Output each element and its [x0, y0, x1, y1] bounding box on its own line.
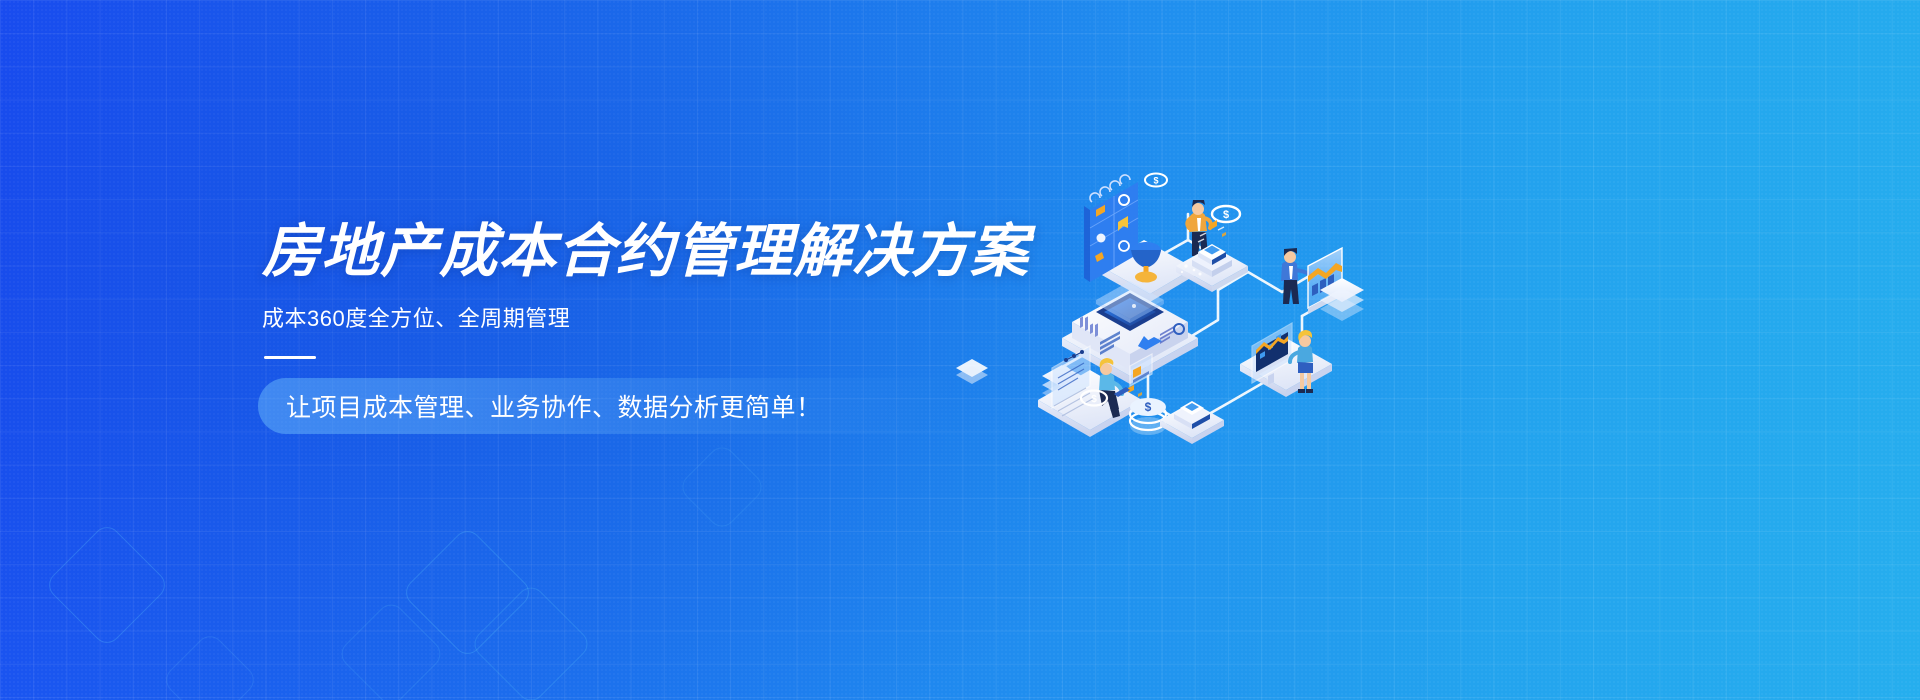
- small-node: [1160, 401, 1224, 444]
- dollar-coin-icon: $: [1212, 206, 1240, 222]
- flat-card-icon: [956, 359, 988, 384]
- diamond-decor-icon: [43, 521, 170, 648]
- diamond-decor-icon: [336, 599, 446, 700]
- svg-text:$: $: [1223, 209, 1229, 221]
- tagline-pill: 让项目成本管理、业务协作、数据分析更简单！: [258, 378, 958, 434]
- hero-banner: 房地产成本合约管理解决方案 成本360度全方位、全周期管理 让项目成本管理、业务…: [0, 0, 1920, 700]
- svg-text:$: $: [1153, 176, 1158, 186]
- diamond-decor-icon: [400, 525, 534, 659]
- page-title: 房地产成本合约管理解决方案: [262, 222, 1022, 281]
- hero-copy: 房地产成本合约管理解决方案 成本360度全方位、全周期管理: [262, 222, 1022, 359]
- page-subtitle: 成本360度全方位、全周期管理: [262, 305, 1022, 334]
- svg-text:$: $: [1091, 394, 1097, 405]
- diamond-decor-icon: [677, 442, 768, 533]
- tagline-text: 让项目成本管理、业务协作、数据分析更简单！: [286, 378, 822, 434]
- divider: [264, 356, 316, 359]
- monitor-node: [1240, 323, 1332, 397]
- isometric-network-illustration: $: [930, 140, 1400, 440]
- dollar-coin-icon: $: [1145, 174, 1167, 187]
- diamond-decor-icon: [469, 582, 593, 700]
- diamond-decor-icon: [161, 631, 260, 700]
- coin-stack-icon: $: [1130, 398, 1166, 435]
- svg-text:$: $: [1145, 400, 1152, 414]
- calendar-node: [1084, 175, 1194, 302]
